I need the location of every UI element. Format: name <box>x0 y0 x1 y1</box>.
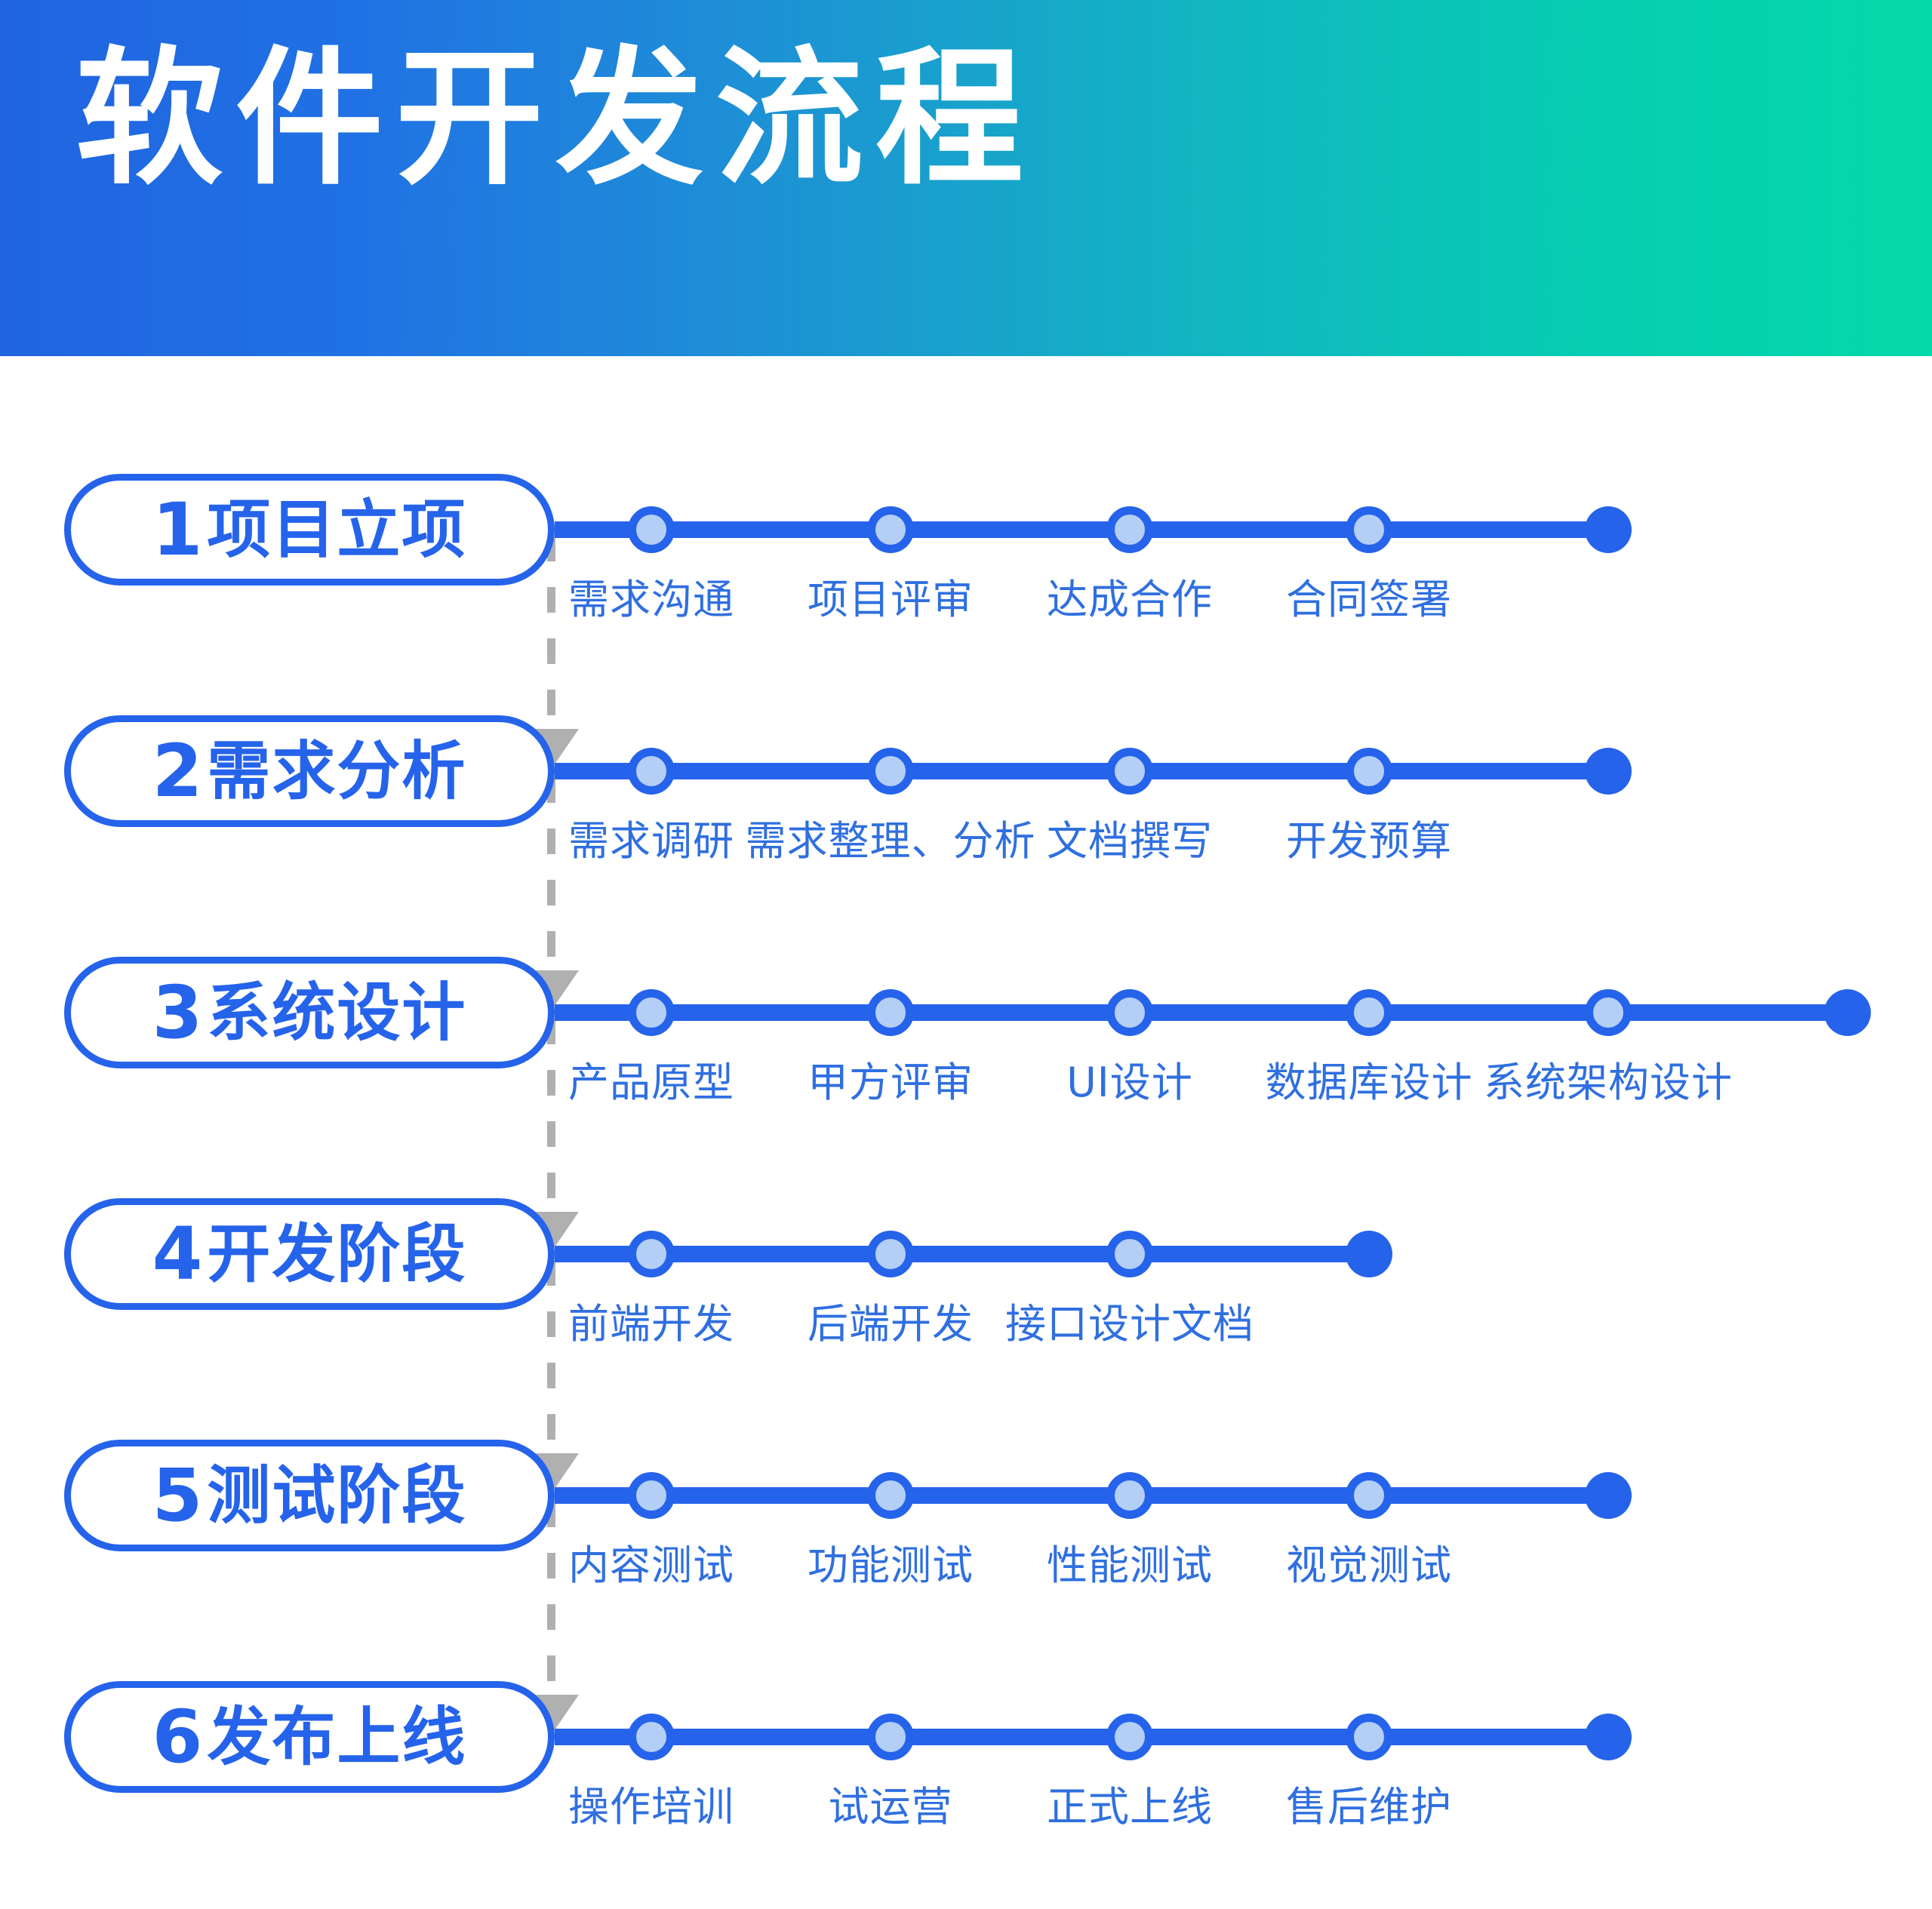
step-node[interactable] <box>867 748 914 795</box>
step-node[interactable] <box>1346 989 1392 1036</box>
stage-row: 2需求分析需求调研需求整理、分析文档撰写开发预算 <box>0 715 1932 942</box>
stage-row: 4开发阶段前端开发后端开发接口设计文档 <box>0 1198 1932 1425</box>
step-label: 内容测试 <box>568 1532 734 1591</box>
stage-name: 系统设计 <box>207 981 466 1044</box>
step-node[interactable] <box>1585 989 1632 1036</box>
stage-row: 1项目立项需求沟通项目评审达成合作合同签署 <box>0 474 1932 700</box>
stage-pill-6[interactable]: 6发布上线 <box>64 1681 555 1793</box>
step-node[interactable] <box>1106 1231 1153 1277</box>
stage-row: 5测试阶段内容测试功能测试性能测试视觉测试 <box>0 1440 1932 1666</box>
track-end-cap <box>1824 989 1871 1036</box>
step-node[interactable] <box>1346 506 1392 553</box>
stage-name: 测试阶段 <box>207 1464 466 1527</box>
track-end-cap <box>1585 1472 1632 1519</box>
page-header: 软件开发流程 <box>0 0 1932 356</box>
step-node[interactable] <box>1106 506 1153 553</box>
step-label: 前端开发 <box>568 1290 734 1350</box>
stage-row: 6发布上线操作培训试运营正式上线售后维护 <box>0 1681 1932 1907</box>
stage-number: 3 <box>152 976 203 1049</box>
step-label: 系统架构设计 <box>1484 1049 1733 1108</box>
stage-name: 开发阶段 <box>207 1222 466 1286</box>
step-node[interactable] <box>867 506 914 553</box>
stage-pill-3[interactable]: 3系统设计 <box>64 957 555 1068</box>
stage-number: 6 <box>152 1701 203 1773</box>
stage-name: 项目立项 <box>207 498 466 561</box>
stage-name: 发布上线 <box>207 1705 466 1769</box>
step-node[interactable] <box>1346 1714 1392 1760</box>
stage-track <box>555 1246 1369 1262</box>
step-label: 甲方评审 <box>808 1049 974 1108</box>
stage-number: 4 <box>152 1218 203 1290</box>
step-label: UI设计 <box>1066 1049 1192 1108</box>
step-label: 功能测试 <box>808 1532 974 1591</box>
stage-pill-4[interactable]: 4开发阶段 <box>64 1198 555 1310</box>
step-node[interactable] <box>628 506 675 553</box>
step-label: 开发预算 <box>1286 807 1452 867</box>
step-node[interactable] <box>867 1714 914 1760</box>
step-label: 接口设计文档 <box>1005 1290 1254 1350</box>
step-node[interactable] <box>628 748 675 795</box>
step-label: 合同签署 <box>1286 566 1452 626</box>
step-label: 操作培训 <box>568 1773 734 1833</box>
step-node[interactable] <box>1106 1714 1153 1760</box>
stage-name: 需求分析 <box>207 739 466 803</box>
step-label: 后端开发 <box>808 1290 974 1350</box>
step-node[interactable] <box>628 1472 675 1519</box>
step-label: 试运营 <box>829 1773 953 1833</box>
stage-pill-1[interactable]: 1项目立项 <box>64 474 555 586</box>
track-end-cap <box>1585 506 1632 553</box>
step-node[interactable] <box>1106 989 1153 1036</box>
step-label: 产品原型 <box>568 1049 734 1108</box>
step-node[interactable] <box>867 1231 914 1277</box>
stage-row: 3系统设计产品原型甲方评审UI设计数据库设计系统架构设计 <box>0 957 1932 1183</box>
step-node[interactable] <box>628 1231 675 1277</box>
step-node[interactable] <box>867 1472 914 1519</box>
step-label: 需求整理、分析 <box>746 807 1036 867</box>
step-label: 性能测试 <box>1047 1532 1213 1591</box>
step-node[interactable] <box>1346 1472 1392 1519</box>
stage-number: 1 <box>152 493 203 566</box>
step-label: 数据库设计 <box>1266 1049 1473 1108</box>
step-node[interactable] <box>1106 748 1153 795</box>
stage-number: 5 <box>152 1459 203 1532</box>
stage-pill-2[interactable]: 2需求分析 <box>64 715 555 827</box>
track-end-cap <box>1585 748 1632 795</box>
stage-track <box>555 763 1608 779</box>
step-label: 达成合作 <box>1047 566 1213 626</box>
step-node[interactable] <box>1346 748 1392 795</box>
track-end-cap <box>1346 1231 1392 1277</box>
stage-number: 2 <box>152 735 203 807</box>
step-label: 需求沟通 <box>568 566 734 626</box>
stage-pill-5[interactable]: 5测试阶段 <box>64 1440 555 1551</box>
stage-track <box>555 1487 1608 1504</box>
step-label: 正式上线 <box>1047 1773 1213 1833</box>
software-development-flow: 1项目立项需求沟通项目评审达成合作合同签署2需求分析需求调研需求整理、分析文档撰… <box>0 356 1932 1909</box>
stage-track <box>555 1729 1608 1745</box>
step-node[interactable] <box>628 989 675 1036</box>
step-node[interactable] <box>1106 1472 1153 1519</box>
stage-track <box>555 521 1608 538</box>
step-label: 文档撰写 <box>1047 807 1213 867</box>
step-label: 售后维护 <box>1286 1773 1452 1833</box>
step-label: 需求调研 <box>568 807 734 867</box>
step-label: 项目评审 <box>808 566 974 626</box>
step-label: 视觉测试 <box>1286 1532 1452 1591</box>
track-end-cap <box>1585 1714 1632 1760</box>
stage-track <box>555 1004 1847 1021</box>
page-title: 软件开发流程 <box>75 35 1035 204</box>
step-node[interactable] <box>628 1714 675 1760</box>
step-node[interactable] <box>867 989 914 1036</box>
